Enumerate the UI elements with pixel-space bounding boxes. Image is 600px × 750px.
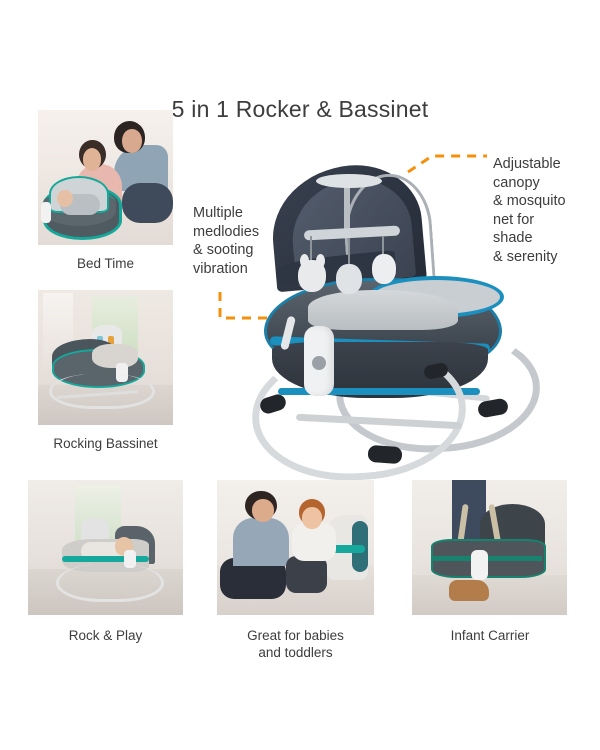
- thumbnail-bed-time[interactable]: [38, 110, 173, 245]
- caption-bed-time: Bed Time: [28, 256, 183, 273]
- rock-and-play-photo: [28, 480, 183, 615]
- thumbnail-rocking-bassinet[interactable]: [38, 290, 173, 425]
- hanging-toy-bear: [336, 264, 362, 294]
- rocker-base: [56, 564, 164, 602]
- rocking-bassinet-photo: [38, 290, 173, 425]
- mother-face: [83, 148, 102, 171]
- seat-pad: [92, 344, 138, 368]
- thumbnail-babies-toddlers[interactable]: [217, 480, 374, 615]
- father-legs: [122, 183, 173, 224]
- bassinet-mattress: [308, 290, 458, 330]
- toddler-torso: [292, 523, 336, 561]
- father-face: [122, 129, 142, 153]
- floor: [412, 575, 567, 616]
- father-torso: [233, 518, 290, 567]
- hanging-toy-ear-right: [316, 254, 325, 268]
- toddler-face: [302, 507, 322, 529]
- product-infographic: 5 in 1 Rocker & Bassinet Multiple medlod…: [0, 0, 600, 750]
- baby-head: [57, 190, 73, 208]
- caption-rock-and-play: Rock & Play: [28, 628, 183, 645]
- control-box: [41, 202, 52, 224]
- infant-carrier-photo: [412, 480, 567, 615]
- person-shoe: [449, 580, 489, 602]
- control-box: [471, 550, 488, 580]
- mobile-top-disc: [316, 174, 382, 188]
- toddler-legs: [286, 556, 327, 594]
- caption-rocking-bassinet: Rocking Bassinet: [18, 436, 193, 453]
- father-face: [252, 499, 274, 522]
- thumbnail-rock-and-play[interactable]: [28, 480, 183, 615]
- caption-infant-carrier: Infant Carrier: [410, 628, 570, 645]
- hanging-toy-ear-left: [300, 254, 309, 268]
- hanging-toy-rabbit: [372, 254, 396, 284]
- bed-time-photo: [38, 110, 173, 245]
- hero-product-image: [248, 150, 518, 480]
- babies-toddlers-photo: [217, 480, 374, 615]
- caption-babies-toddlers: Great for babies and toddlers: [212, 628, 379, 662]
- caption-babies-toddlers-line-1: Great for babies: [212, 628, 379, 645]
- caption-babies-toddlers-line-2: and toddlers: [212, 645, 379, 662]
- rocker-foot-2: [367, 445, 402, 464]
- thumbnail-infant-carrier[interactable]: [412, 480, 567, 615]
- rocker-base: [49, 374, 155, 409]
